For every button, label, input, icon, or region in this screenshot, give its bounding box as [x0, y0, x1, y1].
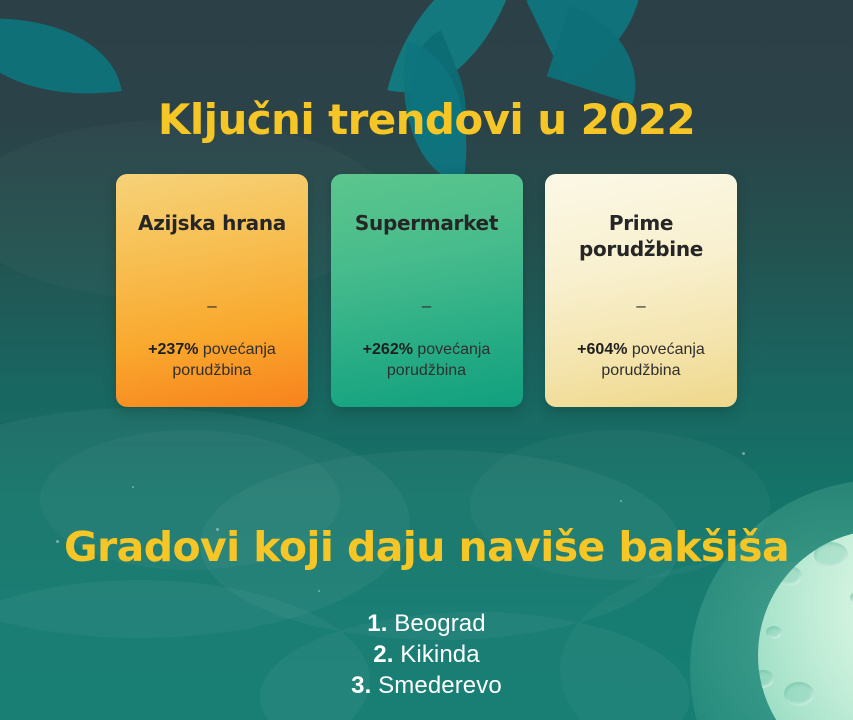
cities-heading: Gradovi koji daju naviše bakšiša: [0, 522, 853, 572]
card-stat: +604% povećanja porudžbina: [559, 339, 723, 407]
infographic-content: Ključni trendovi u 2022 Azijska hrana – …: [0, 0, 853, 720]
card-title: Azijska hrana: [138, 210, 286, 236]
card-divider: –: [207, 297, 216, 315]
city-name: Beograd: [394, 610, 485, 637]
card-title: Prime porudžbine: [579, 210, 703, 262]
trends-heading: Ključni trendovi u 2022: [0, 95, 853, 145]
city-name: Kikinda: [400, 641, 479, 668]
list-item: 3. Smederevo: [0, 670, 853, 701]
city-rank: 3.: [351, 672, 371, 699]
card-stat-percent: +237%: [148, 341, 198, 358]
list-item: 1. Beograd: [0, 608, 853, 639]
card-divider: –: [636, 297, 645, 315]
trend-card-asian-food: Azijska hrana – +237% povećanja porudžbi…: [116, 174, 308, 407]
infographic-canvas: Ključni trendovi u 2022 Azijska hrana – …: [0, 0, 853, 720]
card-stat-percent: +262%: [363, 341, 413, 358]
list-item: 2. Kikinda: [0, 639, 853, 670]
card-stat: +262% povećanja porudžbina: [345, 339, 509, 407]
city-ranking-list: 1. Beograd 2. Kikinda 3. Smederevo: [0, 608, 853, 701]
card-stat: +237% povećanja porudžbina: [130, 339, 294, 407]
trend-cards: Azijska hrana – +237% povećanja porudžbi…: [116, 174, 737, 407]
city-name: Smederevo: [378, 672, 502, 699]
trend-card-prime-orders: Prime porudžbine – +604% povećanja porud…: [545, 174, 737, 407]
card-stat-percent: +604%: [577, 341, 627, 358]
card-divider: –: [422, 297, 431, 315]
city-rank: 2.: [373, 641, 393, 668]
card-title: Supermarket: [355, 210, 498, 236]
city-rank: 1.: [367, 610, 387, 637]
trend-card-supermarket: Supermarket – +262% povećanja porudžbina: [331, 174, 523, 407]
